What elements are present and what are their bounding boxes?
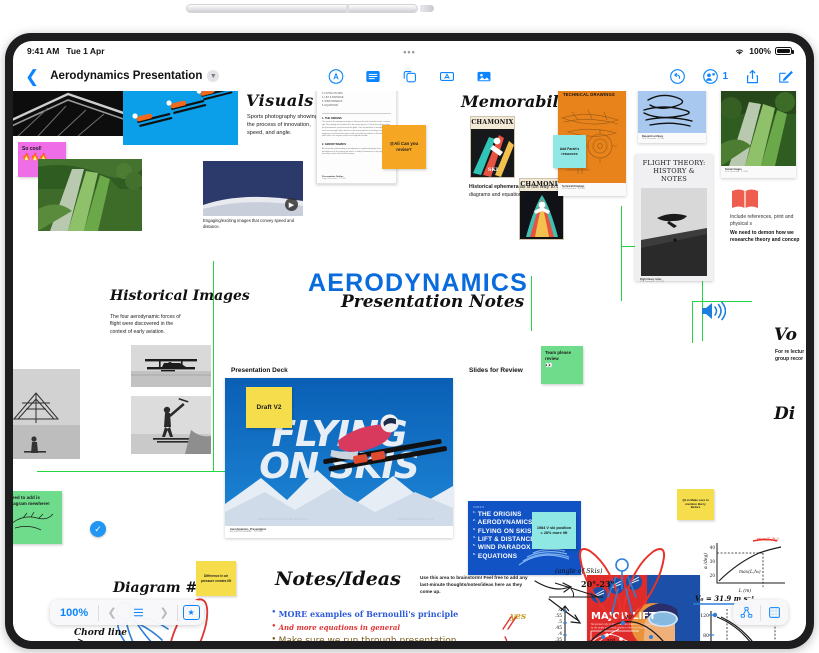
svg-text:.45: .45 (555, 626, 562, 631)
sticky-1984-text: 1984 V ski position = 28% more lift (536, 526, 572, 536)
page-title: Aerodynamics Presentation (50, 70, 202, 82)
doc-terrain-images[interactable]: Terrain Images PDF Document · 4.7 MB (721, 91, 796, 178)
svg-text:20: 20 (710, 573, 716, 578)
early-skier-art (131, 396, 211, 454)
shapes-icon[interactable] (401, 68, 418, 85)
status-left: 9:41 AM Tue 1 Apr (27, 46, 105, 56)
deck-meta: Aerodynamics_Presentation Keynote Presen… (225, 526, 453, 535)
chart1-points (574, 621, 678, 641)
heading-visuals: Visuals (246, 91, 314, 110)
sticky-revise-text: @Ali Can you revise? (386, 141, 422, 152)
chart1-title: (angle of Skis) (555, 567, 603, 575)
chevron-right-icon[interactable]: ❯ (151, 600, 177, 625)
label-chord-line: Chord line (74, 628, 127, 638)
video-caption: Engaging/exciting images that convey spe… (203, 218, 295, 229)
photo-biplane[interactable] (131, 345, 211, 387)
research-size: PDF Document · 12 MB (642, 138, 702, 140)
slide-index-kicker: INDEX (468, 501, 581, 511)
memorabilia-bold: Historical ephemera (469, 184, 519, 190)
battery-percent: 100% (749, 46, 771, 56)
doc-section-2: 2. AERODYNAMICS (322, 143, 391, 146)
speaker-icon (700, 300, 726, 327)
pencil-square-icon[interactable] (777, 68, 794, 85)
svg-text:40: 40 (710, 545, 716, 550)
pencil-body (186, 4, 418, 13)
sticky-draft-text: Draft V2 (257, 404, 282, 412)
photo-bw-art (13, 91, 128, 136)
battery-icon (775, 47, 792, 56)
circle-a-icon[interactable] (327, 68, 344, 85)
chart-cl-vs-cd[interactable]: (angle of Skis) 20°-23° (541, 561, 701, 641)
sticky-team-text: Team please review (545, 350, 579, 361)
sticky-pressure-text: Difference in air pressure creates lift (200, 574, 232, 582)
collaborator-count: 1 (722, 71, 728, 82)
nav-bar: ❮ Aerodynamics Presentation ▼ (13, 61, 806, 91)
chart2-ylabel: α (deg) (704, 553, 709, 569)
references-line-1: Include references, print and physical s (730, 214, 806, 229)
doc-para-2: An increased understanding of aerodynami… (322, 148, 391, 157)
list-item: ● And more equations in general (272, 623, 522, 632)
deck-file-meta: Keynote Presentation · 54.5 MB (230, 531, 448, 533)
speaker-icon-art (700, 300, 726, 322)
collaborate-button[interactable]: 1 (702, 68, 728, 85)
doc-outline-meta: Presentation Outline Pages Document · 12… (322, 176, 346, 180)
references-line-2: We need to demon how we researche theory… (730, 230, 806, 245)
terrain-meta: Terrain Images PDF Document · 4.7 MB (721, 166, 796, 175)
flight-theory-meta: Flight theory notes PDF Document · 14.1 … (635, 276, 713, 285)
right-toolbar: 1 (669, 68, 794, 85)
sticky-note-icon[interactable] (364, 68, 381, 85)
poster-1-art: SKI (471, 127, 515, 177)
connector-line-7 (531, 276, 532, 331)
svg-text:.6: .6 (558, 608, 562, 613)
poster-1-title: CHAMONIX (471, 117, 514, 126)
sticky-team-please-review[interactable]: Team please review 👀 (541, 346, 583, 384)
photo-early-skier[interactable] (131, 396, 211, 454)
note-item-1: And more equations in general (279, 623, 400, 632)
heading-historical-images: Historical Images (110, 288, 250, 304)
chart2-yticks: 403020 (710, 545, 716, 578)
play-icon[interactable]: ▶ (285, 198, 298, 211)
chart-alpha-art: max(L,h₀) 403020 α (deg) L (m) max(L,h₀) (701, 537, 793, 599)
sticky-draft-v2[interactable]: Draft V2 (246, 387, 292, 428)
presentation-deck-label: Presentation Deck (231, 367, 288, 374)
book-icon-art (730, 187, 760, 211)
chart2-inline-label: max(L,h₀) (739, 570, 761, 575)
research-art (638, 91, 706, 133)
biplane-art (131, 345, 211, 387)
chart-cl-vs-cd-art: (angle of Skis) 20°-23° (541, 561, 701, 641)
sticky-so-cool-text: So cool! (22, 146, 62, 152)
doc-para-1: The sport of ski jumping has origins in … (322, 121, 391, 138)
research-cover (638, 91, 706, 133)
terrain-size: PDF Document · 4.7 MB (725, 171, 792, 173)
grid-icon[interactable] (761, 600, 788, 625)
svg-text:.55: .55 (555, 614, 562, 619)
wifi-icon (734, 47, 745, 56)
terrain-cover (721, 91, 796, 166)
star-icon: ★ (183, 605, 200, 620)
photo-icon[interactable] (475, 68, 492, 85)
chart2-curve (719, 547, 781, 581)
sticky-need-text: need to add is diagram mewhere! (13, 495, 58, 507)
historical-body: The four aerodynamic forces of flight we… (110, 314, 186, 336)
chart2-max-label: max(L,h₀) (757, 538, 779, 543)
zoom-level[interactable]: 100% (50, 607, 98, 619)
status-right: 100% (734, 46, 792, 56)
photo-ski-hill[interactable] (38, 159, 142, 231)
slides-for-review-label: Slides for Review (469, 367, 523, 374)
chevron-left-icon[interactable]: ❮ (99, 600, 125, 625)
chart3-yticks: 1208040 (700, 613, 709, 641)
svg-text:SKI: SKI (488, 167, 499, 173)
list-item: ● MORE examples of Bernoulli's principle (272, 609, 522, 619)
photo-bw-topleft[interactable] (13, 91, 128, 136)
ski-hill-art (38, 159, 142, 231)
doc-research-archives[interactable]: Research archives PDF Document · 12 MB (638, 91, 706, 143)
svg-text:120: 120 (700, 613, 709, 619)
research-meta: Research archives PDF Document · 12 MB (638, 133, 706, 142)
doc-section-1: 1. THE ORIGINS (322, 117, 391, 120)
screenshot-root: 9:41 AM Tue 1 Apr ••• 100% ❮ Aerody (0, 0, 819, 653)
ink-check-marks (499, 615, 529, 641)
poster-chamonix-ski-jumping[interactable]: CHAMONIX SKI (470, 116, 515, 178)
svg-text:80: 80 (703, 633, 709, 639)
list-item: ● Make sure we run through presentation (272, 636, 522, 641)
photo-bw-left-art (13, 369, 80, 459)
chart3-start-point (713, 613, 717, 617)
svg-text:.4: .4 (558, 632, 562, 637)
heading-di: Di (774, 404, 795, 424)
flight-theory-size: PDF Document · 14.1 MB (640, 281, 708, 283)
list-icon[interactable] (125, 600, 151, 625)
references-note: Include references, print and physical s… (730, 214, 806, 244)
svg-text:.5: .5 (558, 620, 562, 625)
sticky-farah-text: Add Farah's resources (557, 147, 582, 156)
sticky-lin-text: @Lin Make sure to mention Barry Before (681, 499, 710, 510)
connector-line-1 (621, 206, 622, 301)
connector-line-9 (692, 301, 693, 343)
pencil-tip (420, 5, 434, 12)
sticky-need-to-add-diagram[interactable]: need to add is diagram mewhere! (13, 491, 62, 544)
book-icon (730, 187, 760, 216)
share-icon[interactable] (744, 68, 761, 85)
note-item-0: MORE examples of Bernoulli's principle (279, 609, 459, 619)
flight-theory-photo (641, 188, 707, 276)
apple-pencil (186, 0, 426, 18)
fab-toolbar[interactable] (733, 600, 788, 625)
chevron-down-icon[interactable]: ▼ (207, 70, 219, 82)
svg-text:30: 30 (710, 559, 716, 564)
chart1-yticks: .6.55.5 .45.4.35 .3.25.2 .15.1.05 (555, 608, 562, 641)
multitask-dots-icon[interactable]: ••• (403, 47, 415, 57)
collaborate-icon (702, 68, 719, 85)
ipad-screen: 9:41 AM Tue 1 Apr ••• 100% ❮ Aerody (13, 41, 806, 641)
brainstorm-note: Use this area to brainstorm! Feel free t… (420, 575, 532, 595)
status-bar: 9:41 AM Tue 1 Apr ••• 100% (13, 41, 806, 61)
sticky-add-farahs-resources[interactable]: Add Farah's resources (553, 135, 586, 168)
svg-text:30°: 30° (606, 639, 616, 641)
status-time: 9:41 AM (27, 46, 59, 56)
sticky-make-sure-mention[interactable]: @Lin Make sure to mention Barry Before (677, 489, 714, 520)
tech-drawings-heading: TECHNICAL DRAWINGS (558, 91, 626, 97)
flight-theory-title-text: FLIGHT THEORY: HISTORY & NOTES (640, 159, 708, 184)
tech-drawings-meta: Technical Drawings PDF Document · 881 KB (558, 183, 626, 192)
doc-outline-size: Pages Document · 120 KB (322, 178, 346, 180)
chart1-annotation: 20°-23° (581, 579, 615, 589)
doc-flight-theory[interactable]: FLIGHT THEORY: HISTORY & NOTES (635, 154, 713, 281)
node-graph-icon[interactable] (733, 600, 760, 625)
star-button[interactable]: ★ (178, 600, 204, 625)
chart1-curve (569, 622, 687, 641)
heading-voice: Vo (774, 325, 797, 345)
sticky-team-emoji: 👀 (545, 363, 579, 371)
svg-text:40°: 40° (624, 615, 635, 621)
photo-ski-jumpers-blue[interactable] (123, 91, 238, 145)
sticky-difference-air-pressure[interactable]: Difference in air pressure creates lift (196, 561, 236, 596)
notes-ideas-list: ● MORE examples of Bernoulli's principle… (272, 609, 522, 641)
sticky-1984-v-ski[interactable]: 1984 V ski position = 28% more lift (532, 512, 576, 549)
video-thumb[interactable]: ▶ (203, 161, 303, 216)
voice-body: For re lectur group recor (775, 349, 806, 364)
sticky-can-you-revise[interactable]: @Ali Can you revise? (382, 125, 426, 169)
flight-theory-art (641, 188, 707, 276)
tech-drawings-size: PDF Document · 881 KB (562, 188, 622, 190)
heading-notes-ideas: Notes/Ideas (275, 568, 401, 590)
flight-theory-heading: FLIGHT THEORY: HISTORY & NOTES (635, 154, 713, 184)
terrain-art (721, 91, 796, 166)
doc-outline-index: 3. FLYING ON SKIS4. LIFT & DISTANCE5. WI… (322, 93, 391, 109)
check-badge-icon: ✓ (90, 521, 106, 537)
center-toolbar (327, 68, 492, 85)
photo-bw-leftedge[interactable] (13, 369, 80, 459)
svg-text:.35: .35 (555, 638, 562, 641)
zoom-toolbar[interactable]: 100% ❮ ❯ ★ (50, 600, 204, 625)
pencil-band (346, 4, 349, 13)
undo-icon[interactable] (669, 68, 686, 85)
ipad-device-frame: 9:41 AM Tue 1 Apr ••• 100% ❮ Aerody (5, 33, 814, 649)
video-card-speed[interactable]: ▶ Engaging/exciting images that convey s… (203, 161, 303, 229)
freeform-canvas[interactable]: Visuals Sports photography showing the p… (13, 91, 806, 641)
svg-text:AERODYNAMICS OF SKI JUMPING: AERODYNAMICS OF SKI JUMPING (258, 517, 308, 521)
text-box-icon[interactable] (438, 68, 455, 85)
status-date: Tue 1 Apr (66, 46, 104, 56)
back-chevron-icon[interactable]: ❮ (25, 68, 39, 85)
sticky-sketch (13, 510, 57, 532)
svg-text:PRESENTATION DECK V2: PRESENTATION DECK V2 (397, 517, 434, 521)
presentation-notes-title: Presentation Notes (341, 292, 524, 312)
note-item-2: Make sure we run through presentation (279, 636, 457, 641)
chart1-tick-marks (563, 611, 669, 641)
ski-jumpers-art (123, 91, 238, 145)
visuals-body: Sports photography showing the process o… (247, 113, 322, 137)
